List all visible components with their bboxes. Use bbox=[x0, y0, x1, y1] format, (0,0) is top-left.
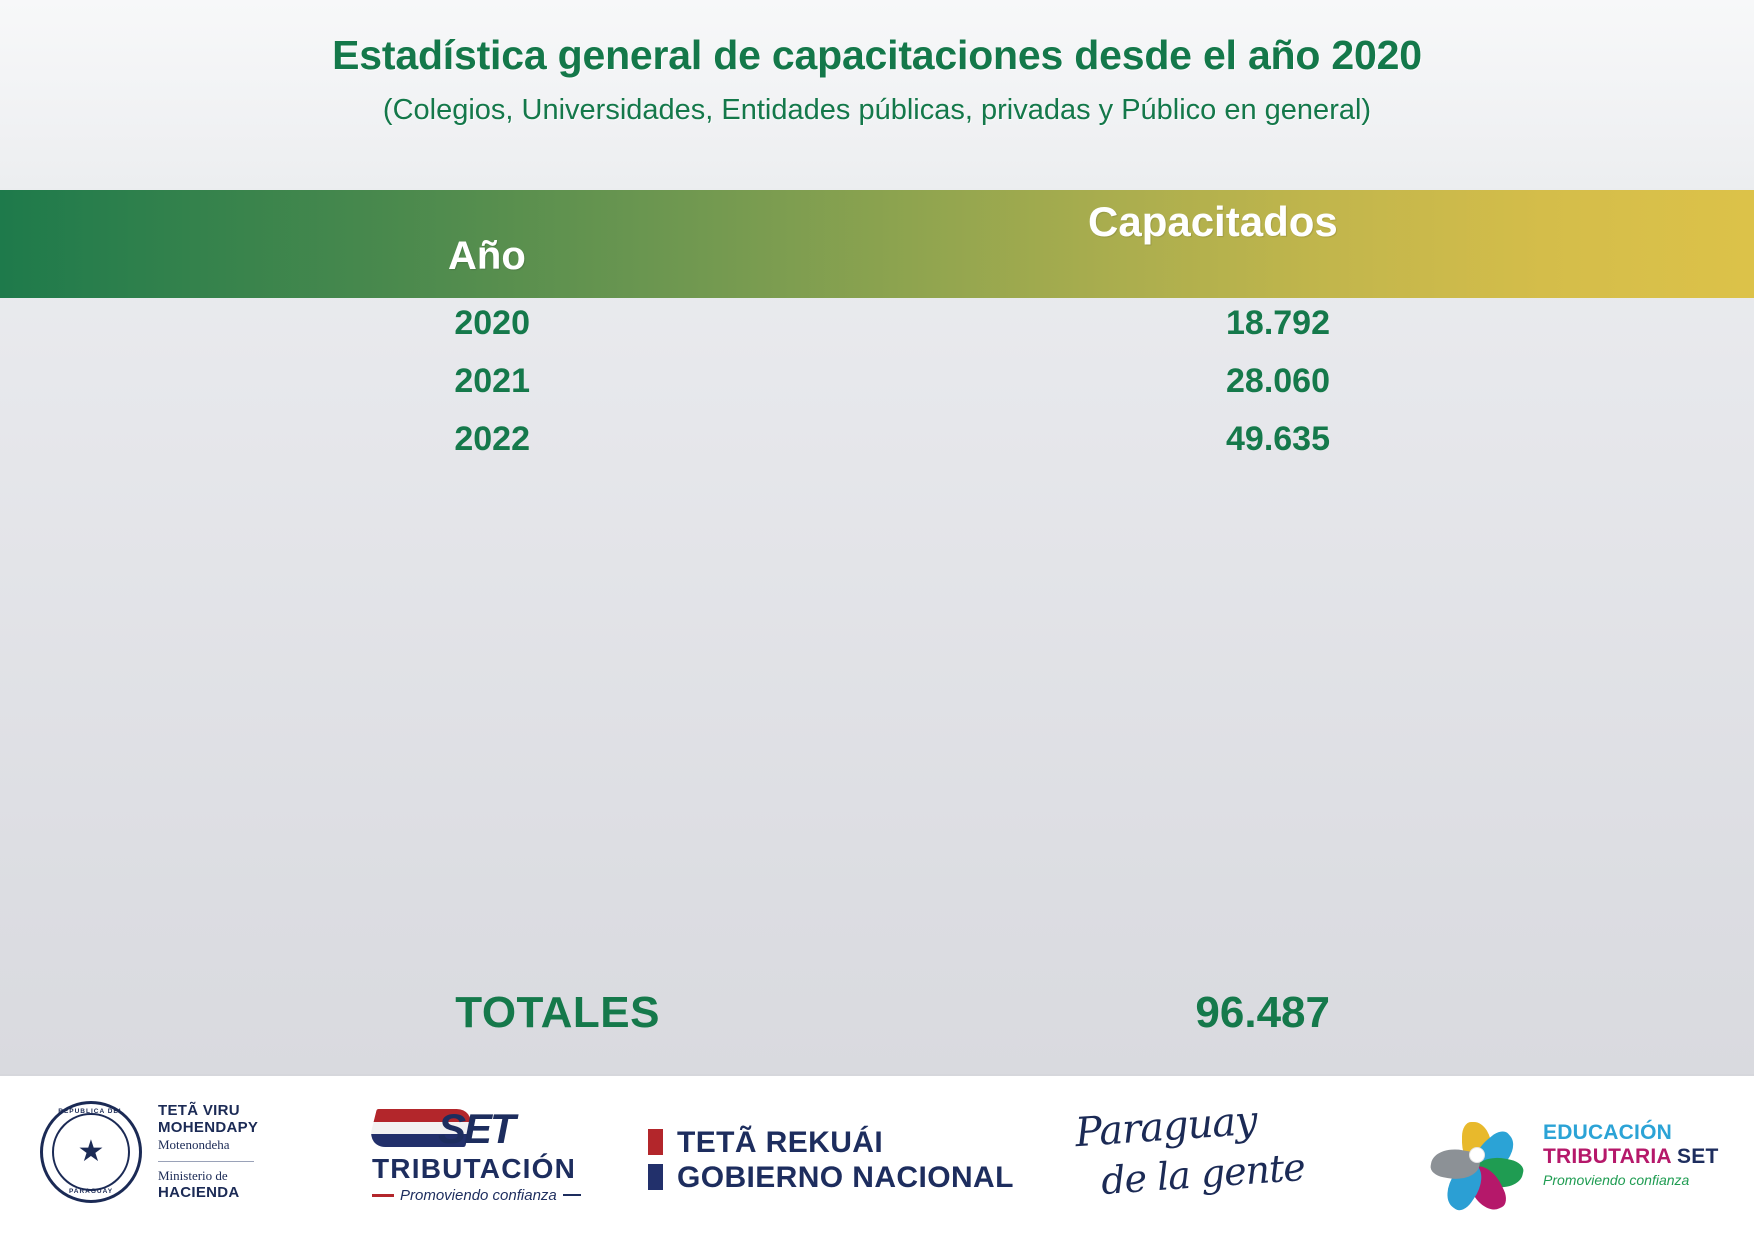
set-slogan-wrap: Promoviendo confianza bbox=[372, 1187, 582, 1204]
pinwheel-icon bbox=[1425, 1103, 1529, 1207]
column-header-capacitados: Capacitados bbox=[1088, 198, 1338, 246]
dash-icon bbox=[372, 1194, 394, 1197]
cell-year: 2020 bbox=[290, 300, 530, 346]
paraguay-line1: Paraguay bbox=[1074, 1100, 1258, 1153]
set-tributacion-label: TRIBUTACIÓN bbox=[372, 1153, 582, 1185]
paraguay-seal-icon: REPUBLICA DEL ★ PARAGUAY bbox=[40, 1101, 142, 1203]
cell-year: 2021 bbox=[290, 358, 530, 404]
educacion-line2: TRIBUTARIA bbox=[1543, 1145, 1671, 1168]
logo-gobierno-nacional: TETÃ REKUÁI GOBIERNO NACIONAL bbox=[648, 1125, 1014, 1196]
cell-capacitados: 18.792 bbox=[940, 300, 1330, 346]
educacion-line1: EDUCACIÓN bbox=[1543, 1121, 1718, 1145]
page-subtitle: (Colegios, Universidades, Entidades públ… bbox=[0, 93, 1754, 128]
cell-capacitados: 28.060 bbox=[940, 358, 1330, 404]
educacion-slogan: Promoviendo confianza bbox=[1543, 1172, 1718, 1188]
gobierno-line1: TETÃ REKUÁI bbox=[677, 1125, 1014, 1160]
dash-icon bbox=[563, 1194, 581, 1196]
table-row: 2021 28.060 bbox=[0, 358, 1754, 416]
hacienda-line3: Motenondeha bbox=[158, 1137, 258, 1154]
table-body: 2020 18.792 2021 28.060 2022 49.635 bbox=[0, 300, 1754, 1060]
logo-ministerio-hacienda: REPUBLICA DEL ★ PARAGUAY TETÃ VIRU MOHEN… bbox=[40, 1101, 258, 1203]
logo-set-tributacion: SET TRIBUTACIÓN Promoviendo confianza bbox=[372, 1105, 582, 1204]
title-block: Estadística general de capacitaciones de… bbox=[0, 0, 1754, 188]
paraguay-line2: de la gente bbox=[1100, 1147, 1306, 1199]
hacienda-line1: TETÃ VIRU bbox=[158, 1102, 258, 1120]
totals-label: TOTALES bbox=[290, 985, 660, 1041]
logo-educacion-tributaria: EDUCACIÓN TRIBUTARIA SET Promoviendo con… bbox=[1425, 1103, 1718, 1207]
educacion-line2-wrap: TRIBUTARIA SET bbox=[1543, 1145, 1718, 1169]
column-header-anio: Año bbox=[448, 234, 526, 279]
hacienda-line5: HACIENDA bbox=[158, 1184, 258, 1201]
set-wordmark: SET bbox=[438, 1105, 514, 1153]
star-icon: ★ bbox=[78, 1137, 105, 1167]
hacienda-line4: Ministerio de bbox=[158, 1168, 258, 1184]
seal-top-text: REPUBLICA DEL bbox=[43, 1108, 139, 1115]
gobierno-marks-icon bbox=[648, 1129, 663, 1190]
totals-row: TOTALES 96.487 bbox=[0, 985, 1754, 1055]
slide-root: Estadística general de capacitaciones de… bbox=[0, 0, 1754, 1241]
page-title: Estadística general de capacitaciones de… bbox=[0, 32, 1754, 79]
table-row: 2022 49.635 bbox=[0, 416, 1754, 474]
gobierno-line2: GOBIERNO NACIONAL bbox=[677, 1160, 1014, 1195]
cell-capacitados: 49.635 bbox=[940, 416, 1330, 462]
educacion-set: SET bbox=[1677, 1145, 1718, 1168]
cell-year: 2022 bbox=[290, 416, 530, 462]
totals-value: 96.487 bbox=[940, 985, 1330, 1041]
table-header-bar: Año Capacitados bbox=[0, 190, 1754, 298]
set-slogan: Promoviendo confianza bbox=[400, 1187, 557, 1204]
divider bbox=[158, 1161, 254, 1162]
hacienda-line2: MOHENDAPY bbox=[158, 1119, 258, 1137]
logo-paraguay-de-la-gente: Paraguay de la gente bbox=[1075, 1107, 1305, 1193]
seal-bottom-text: PARAGUAY bbox=[43, 1188, 139, 1195]
table-row: 2020 18.792 bbox=[0, 300, 1754, 358]
footer-logo-bar: REPUBLICA DEL ★ PARAGUAY TETÃ VIRU MOHEN… bbox=[0, 1074, 1754, 1241]
